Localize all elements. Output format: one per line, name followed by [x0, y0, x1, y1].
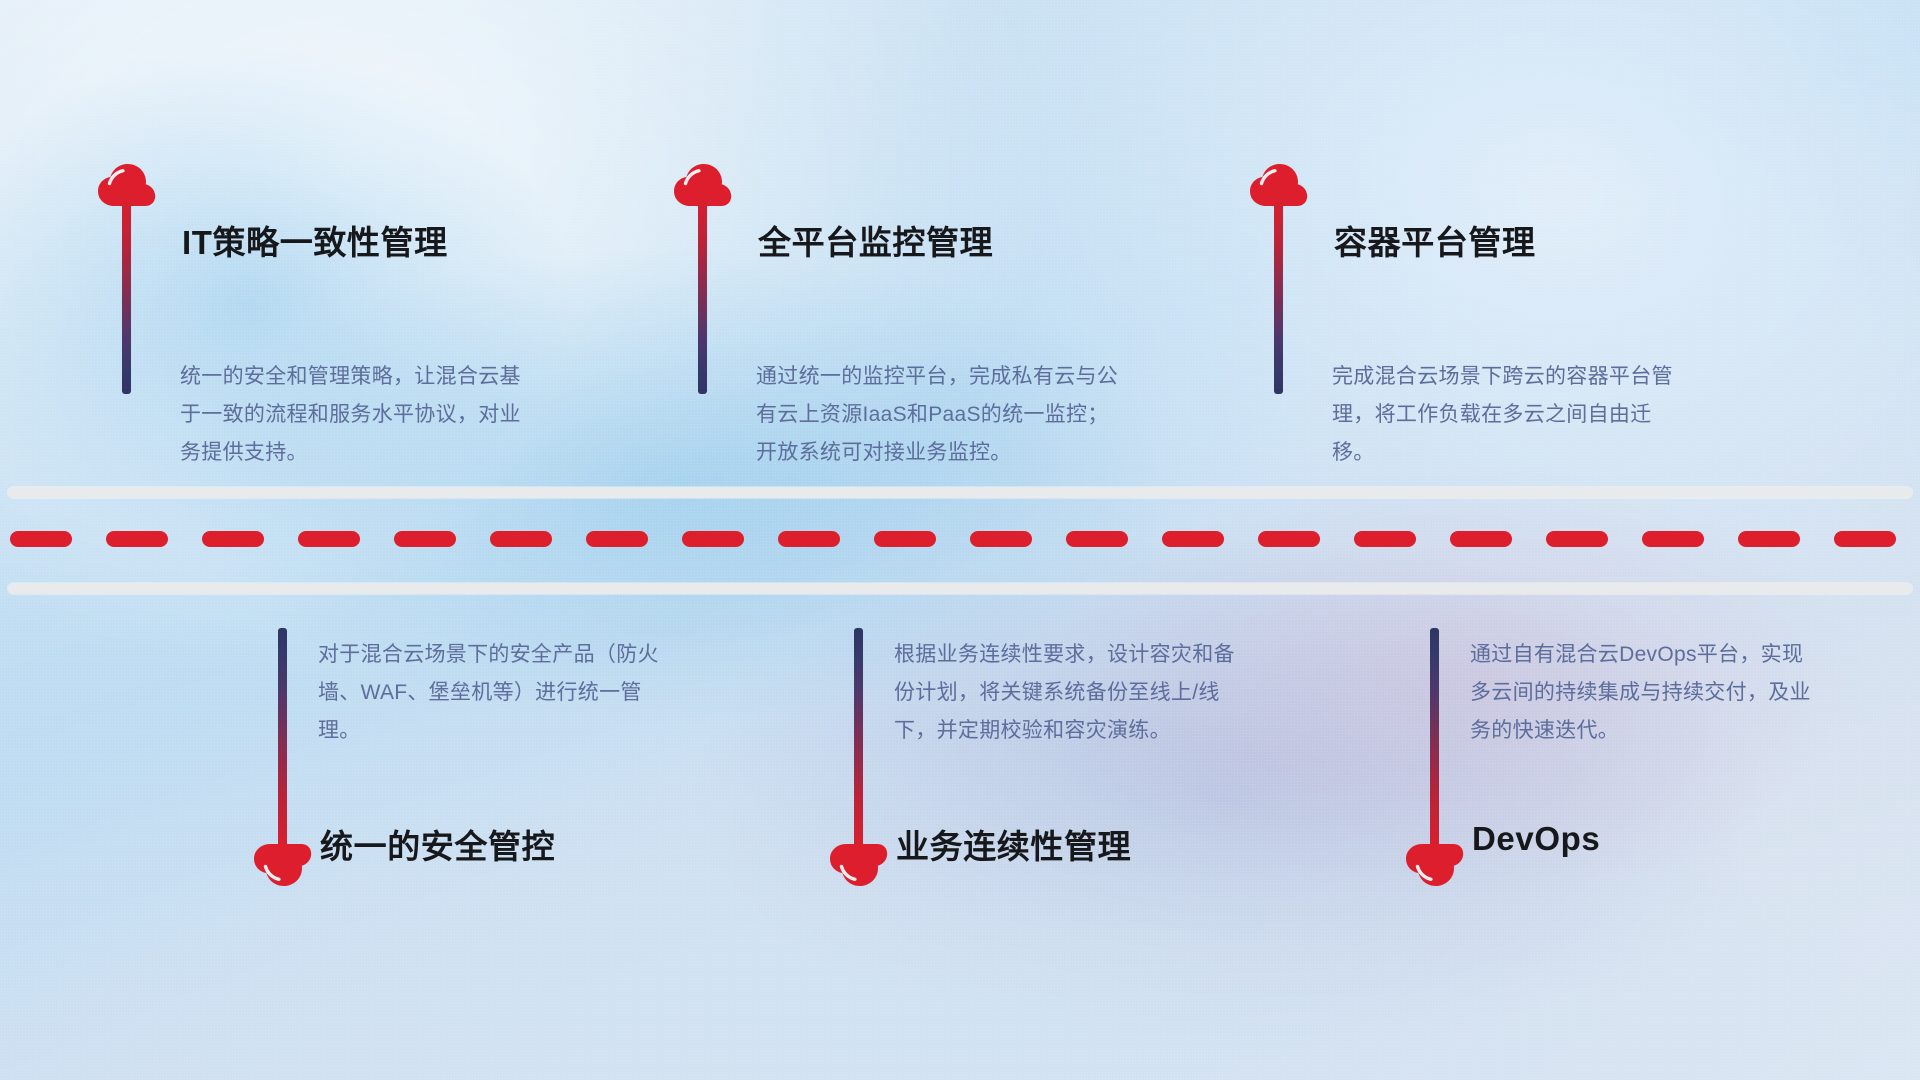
- pin-stem: [122, 194, 131, 394]
- cloud-icon: [828, 842, 890, 890]
- divider-dash: [1738, 531, 1800, 547]
- divider-dash: [1354, 531, 1416, 547]
- divider-rail-bottom: [8, 583, 1912, 594]
- pin-stem: [698, 194, 707, 394]
- heading-full-platform-monitoring: 全平台监控管理: [758, 216, 993, 264]
- heading-it-policy-consistency: IT策略一致性管理: [182, 216, 448, 264]
- pin-stem: [854, 628, 863, 852]
- divider-dash: [1066, 531, 1128, 547]
- divider-dash: [394, 531, 456, 547]
- heading-unified-security-control: 统一的安全管控: [320, 820, 555, 868]
- divider-dash: [1642, 531, 1704, 547]
- body-unified-security-control: 对于混合云场景下的安全产品（防火墙、WAF、堡垒机等）进行统一管理。: [318, 636, 668, 750]
- infographic-canvas: IT策略一致性管理 统一的安全和管理策略，让混合云基于一致的流程和服务水平协议，…: [0, 0, 1920, 1080]
- divider-dash: [778, 531, 840, 547]
- body-container-platform: 完成混合云场景下跨云的容器平台管理，将工作负载在多云之间自由迁移。: [1332, 358, 1682, 472]
- divider-dash: [1258, 531, 1320, 547]
- body-business-continuity: 根据业务连续性要求，设计容灾和备份计划，将关键系统备份至线上/线下，并定期校验和…: [894, 636, 1244, 750]
- divider-dash: [106, 531, 168, 547]
- divider-dash: [1834, 531, 1896, 547]
- pin-stem: [278, 628, 287, 852]
- heading-container-platform: 容器平台管理: [1334, 216, 1536, 264]
- divider-dash: [1450, 531, 1512, 547]
- cloud-icon: [252, 842, 314, 890]
- heading-business-continuity: 业务连续性管理: [896, 820, 1131, 868]
- heading-devops: DevOps: [1472, 820, 1600, 858]
- divider-dash: [1162, 531, 1224, 547]
- divider-dash: [970, 531, 1032, 547]
- divider-dash-row: [0, 530, 1920, 548]
- divider-dash: [298, 531, 360, 547]
- divider-rail-top: [8, 487, 1912, 498]
- body-it-policy-consistency: 统一的安全和管理策略，让混合云基于一致的流程和服务水平协议，对业务提供支持。: [180, 358, 530, 472]
- divider-dash: [202, 531, 264, 547]
- dashed-divider: [0, 487, 1920, 597]
- divider-dash: [490, 531, 552, 547]
- body-full-platform-monitoring: 通过统一的监控平台，完成私有云与公有云上资源IaaS和PaaS的统一监控；开放系…: [756, 358, 1121, 472]
- divider-dash: [586, 531, 648, 547]
- divider-dash: [1546, 531, 1608, 547]
- divider-dash: [682, 531, 744, 547]
- pin-stem: [1274, 194, 1283, 394]
- divider-dash: [874, 531, 936, 547]
- cloud-icon: [1404, 842, 1466, 890]
- body-devops: 通过自有混合云DevOps平台，实现多云间的持续集成与持续交付，及业务的快速迭代…: [1470, 636, 1820, 750]
- pin-stem: [1430, 628, 1439, 852]
- divider-dash: [10, 531, 72, 547]
